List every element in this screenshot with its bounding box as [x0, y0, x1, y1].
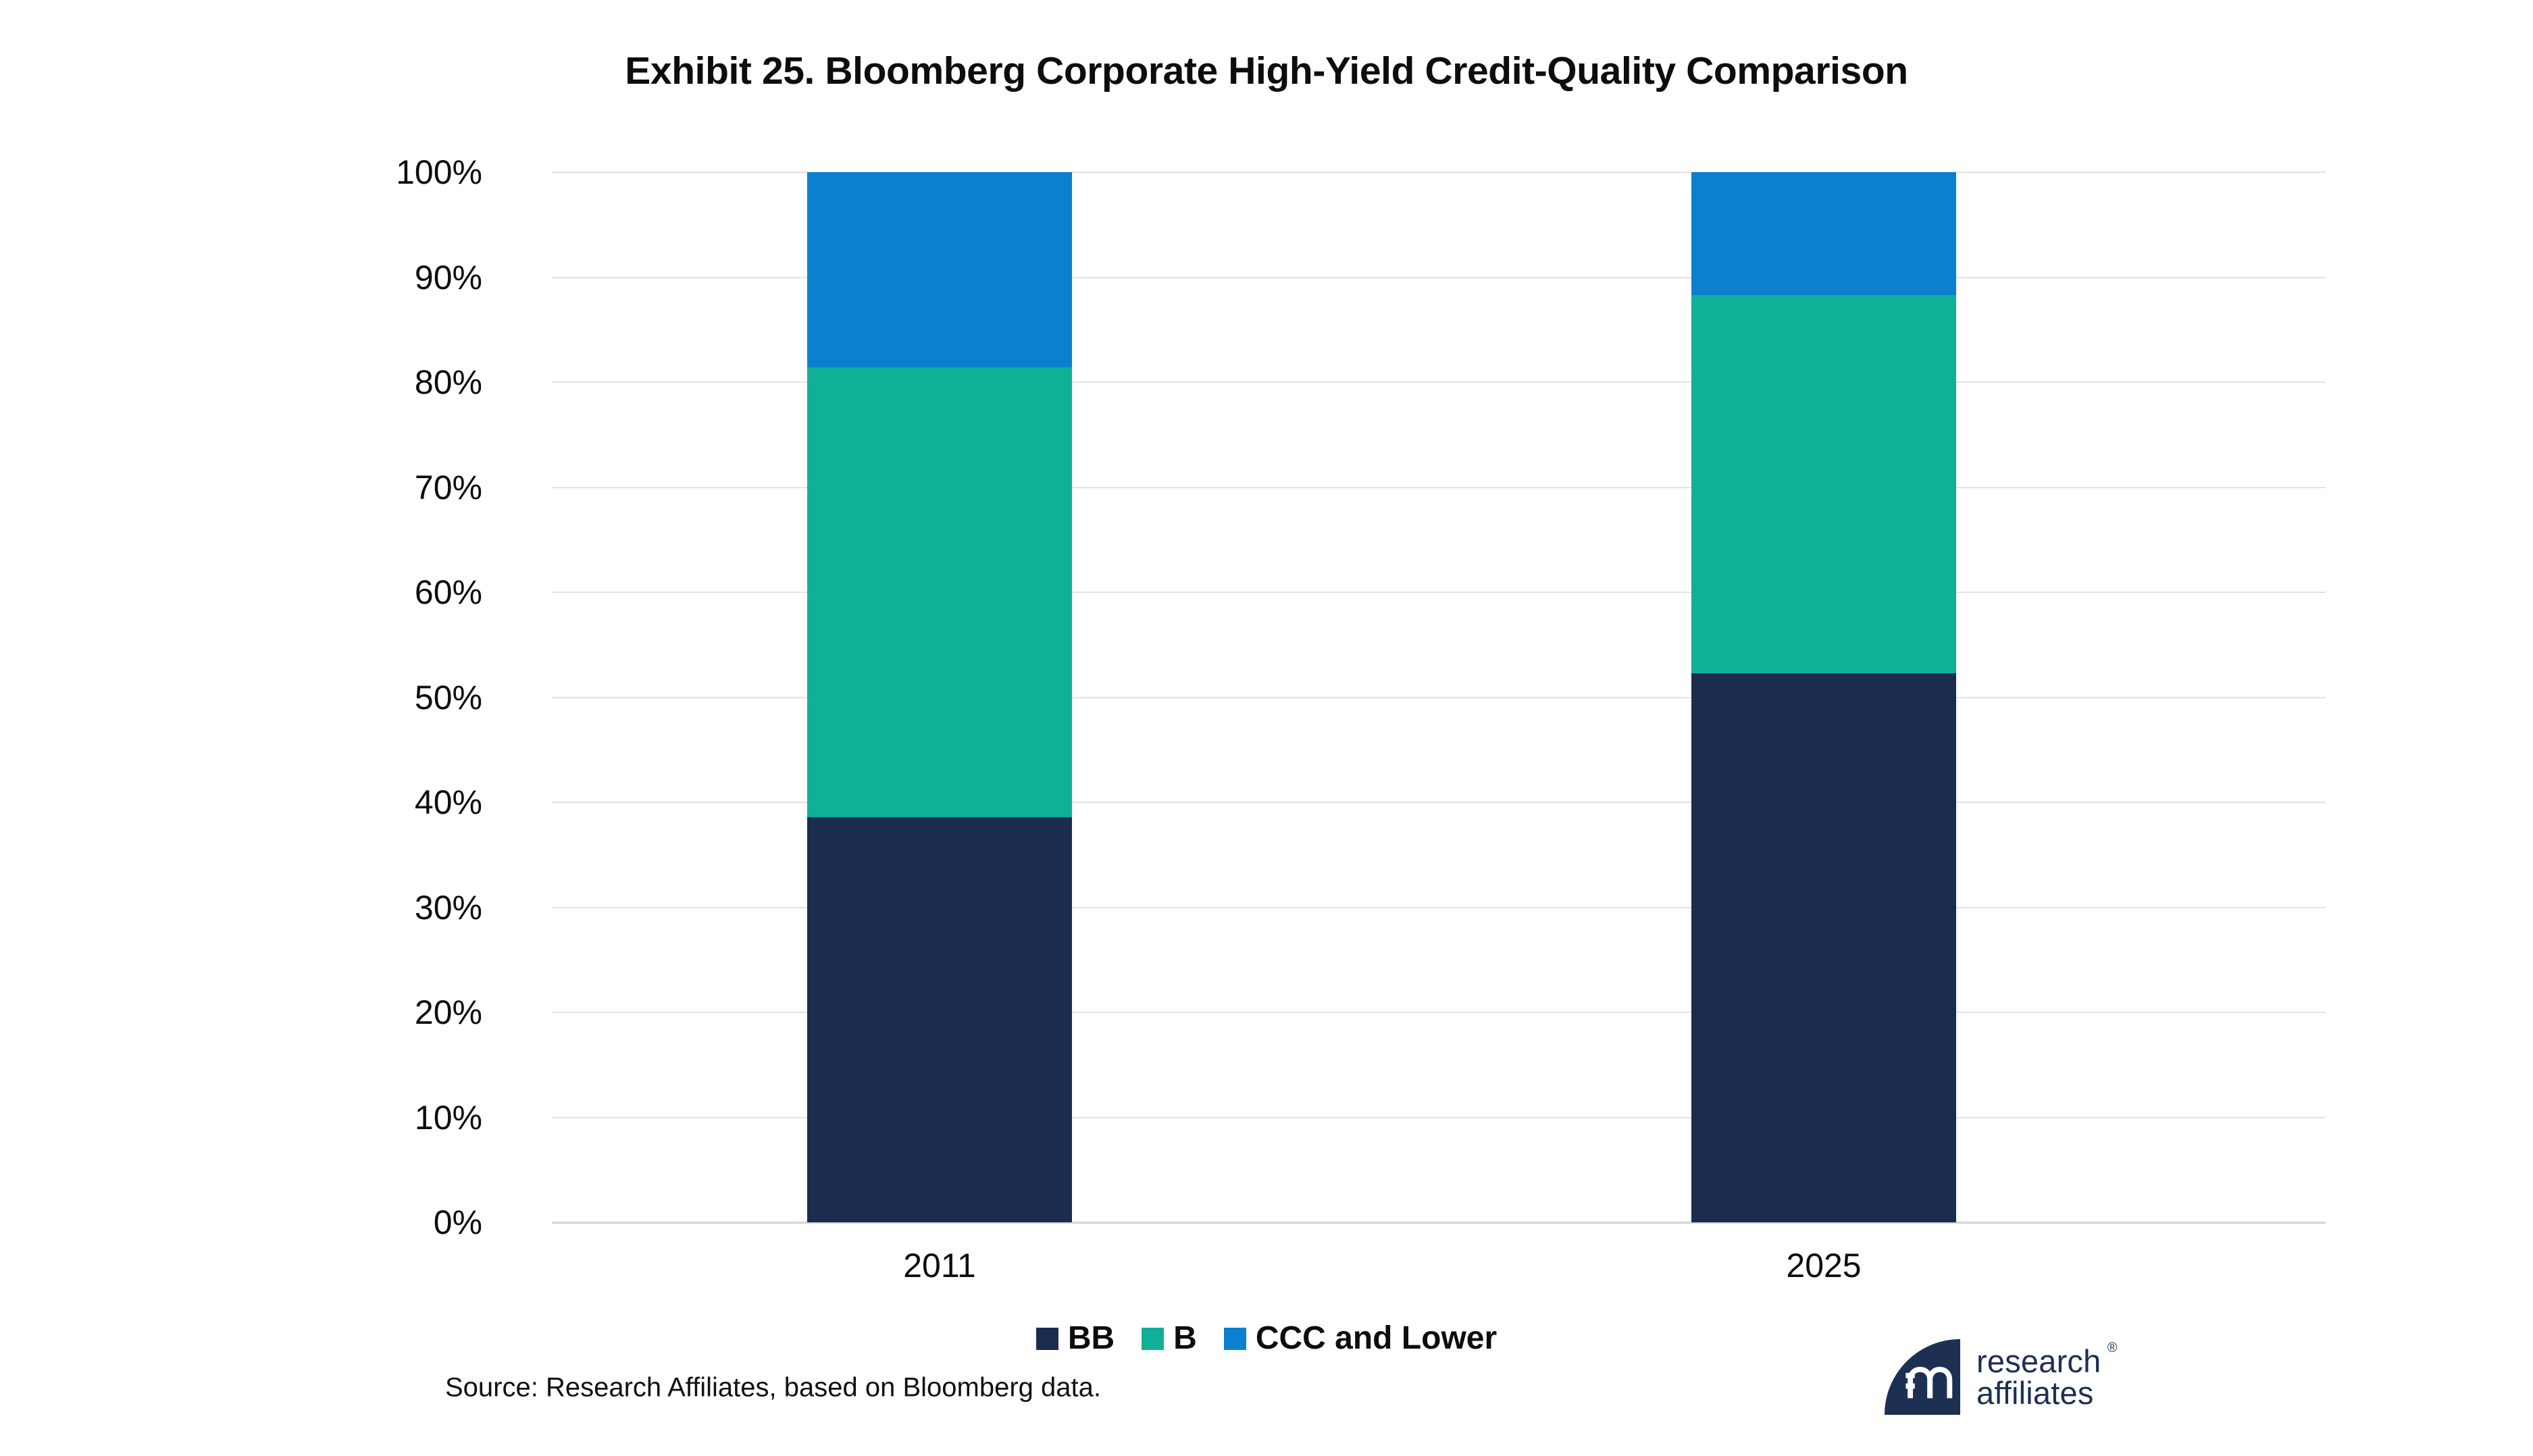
bar-segment-2011-bb[interactable]: [807, 817, 1072, 1222]
legend-swatch-icon: [1224, 1328, 1246, 1350]
y-axis-tick-label: 50%: [415, 678, 482, 717]
y-axis-tick-label: 30%: [415, 888, 482, 927]
legend-label: CCC and Lower: [1256, 1322, 1497, 1355]
source-note: Source: Research Affiliates, based on Bl…: [445, 1373, 1101, 1403]
legend-label: BB: [1068, 1322, 1115, 1355]
y-axis-tick-label: 100%: [396, 153, 482, 192]
page-title: Exhibit 25. Bloomberg Corporate High-Yie…: [0, 49, 2533, 93]
y-axis-tick-label: 60%: [415, 573, 482, 612]
logo-mark-icon: [1885, 1339, 1960, 1415]
bar-segment-2025-ccc-and-lower[interactable]: [1691, 172, 1956, 295]
bar-column-2025[interactable]: [1691, 172, 1956, 1222]
bar-segment-2025-bb[interactable]: [1691, 673, 1956, 1222]
x-axis-tick-label-2011: 2011: [903, 1246, 976, 1285]
plot-area: [552, 172, 2326, 1222]
y-axis-tick-label: 70%: [415, 468, 482, 507]
registered-trademark-icon: ®: [2107, 1341, 2118, 1355]
y-axis-tick-label: 90%: [415, 258, 482, 297]
chart-legend: BBBCCC and Lower: [0, 1322, 2533, 1355]
bar-segment-2011-b[interactable]: [807, 367, 1072, 817]
bar-column-2011[interactable]: [807, 172, 1072, 1222]
x-axis-tick-label-2025: 2025: [1786, 1246, 1861, 1285]
logo-line-2: affiliates: [1976, 1377, 2101, 1409]
bar-segment-2025-b[interactable]: [1691, 295, 1956, 673]
y-axis-tick-label: 80%: [415, 363, 482, 402]
bar-segment-2011-ccc-and-lower[interactable]: [807, 172, 1072, 367]
y-axis-tick-label: 0%: [434, 1203, 482, 1242]
legend-item-ccc-and-lower[interactable]: CCC and Lower: [1224, 1322, 1497, 1355]
research-affiliates-logo: research affiliates ®: [1885, 1339, 2101, 1415]
y-axis: 0%10%20%30%40%50%60%70%80%90%100%: [0, 172, 513, 1222]
legend-swatch-icon: [1142, 1328, 1164, 1350]
y-axis-tick-label: 20%: [415, 993, 482, 1032]
y-axis-tick-label: 40%: [415, 783, 482, 822]
logo-line-1: research: [1976, 1345, 2101, 1377]
y-axis-tick-label: 10%: [415, 1098, 482, 1137]
legend-swatch-icon: [1036, 1328, 1058, 1350]
legend-item-b[interactable]: B: [1142, 1322, 1197, 1355]
legend-item-bb[interactable]: BB: [1036, 1322, 1115, 1355]
logo-wordmark: research affiliates ®: [1976, 1345, 2101, 1409]
legend-label: B: [1173, 1322, 1197, 1355]
